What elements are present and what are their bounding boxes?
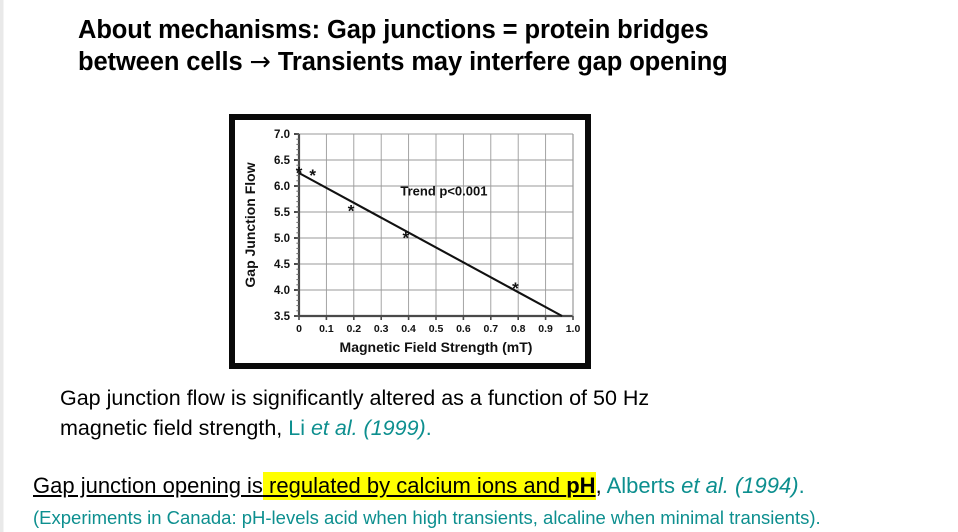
x-axis-label: Magnetic Field Strength (mT) — [340, 339, 533, 355]
data-point-marker: * — [296, 164, 303, 183]
title-line-2-before: between cells — [78, 48, 243, 76]
y-tick-label: 5.5 — [274, 207, 291, 219]
data-point-marker: * — [403, 229, 410, 248]
x-tick-label: 0.6 — [456, 323, 471, 335]
y-tick-label: 4.5 — [274, 259, 291, 271]
arrow-icon: → — [250, 47, 271, 77]
slide-title: About mechanisms: Gap junctions = protei… — [78, 14, 898, 78]
footnote: (Experiments in Canada: pH-levels acid w… — [33, 506, 943, 530]
x-tick-label: 0.9 — [538, 323, 553, 335]
x-tick-label: 0.8 — [511, 323, 526, 335]
y-tick-label: 6.0 — [274, 181, 290, 193]
page-edge-artifact-2 — [3, 0, 4, 532]
title-line-2-after: Transients may interfere gap opening — [278, 48, 728, 76]
citation-li-rest: et al. (1999) — [305, 416, 426, 440]
title-line-1: About mechanisms: Gap junctions = protei… — [78, 16, 709, 44]
y-tick-label: 4.0 — [274, 285, 290, 297]
highlight-line-plain-1: Gap junction opening is — [33, 473, 263, 498]
scatter-chart: 3.54.04.55.05.56.06.57.000.10.20.30.40.5… — [235, 120, 585, 363]
y-tick-label: 7.0 — [274, 129, 290, 141]
x-tick-label: 0.3 — [374, 323, 389, 335]
citation-li-end: . — [426, 416, 432, 440]
citation-alberts-end: . — [799, 473, 805, 498]
title-line-2: between cells → Transients may interfere… — [78, 46, 898, 78]
paragraph-line-1: Gap junction flow is significantly alter… — [60, 386, 649, 410]
paragraph-line-2: magnetic field strength, Li et al. (1999… — [60, 413, 820, 443]
data-point-marker: * — [348, 201, 355, 220]
highlight-marked-text-1: regulated by calcium ions and — [263, 473, 566, 498]
data-point-marker: * — [512, 279, 519, 298]
x-tick-label: 1.0 — [566, 323, 581, 335]
citation-li-name: Li — [288, 416, 305, 440]
chart-figure: 3.54.04.55.05.56.06.57.000.10.20.30.40.5… — [229, 114, 591, 369]
x-tick-label: 0 — [296, 323, 302, 335]
y-tick-label: 6.5 — [274, 155, 291, 167]
y-axis-label: Gap Junction Flow — [242, 162, 258, 287]
x-tick-label: 0.1 — [319, 323, 334, 335]
citation-alberts-rest: et al. (1994) — [675, 473, 799, 498]
chart-plot-area: 3.54.04.55.05.56.06.57.000.10.20.30.40.5… — [235, 120, 585, 363]
y-tick-label: 5.0 — [274, 233, 290, 245]
x-tick-label: 0.7 — [483, 323, 498, 335]
x-tick-label: 0.2 — [346, 323, 361, 335]
data-point-marker: * — [309, 166, 316, 185]
paragraph-line-2-plain: magnetic field strength, — [60, 416, 288, 440]
highlight-line: Gap junction opening is regulated by cal… — [33, 472, 933, 500]
x-tick-label: 0.4 — [401, 323, 416, 335]
highlight-marked-ph: pH — [566, 473, 595, 498]
body-paragraph: Gap junction flow is significantly alter… — [60, 383, 820, 443]
trend-annotation: Trend p<0.001 — [400, 183, 487, 198]
highlight-line-plain-2: , — [596, 473, 607, 498]
highlight-marked-text: regulated by calcium ions and pH — [263, 472, 596, 500]
x-tick-label: 0.5 — [429, 323, 444, 335]
citation-alberts-name: Alberts — [607, 473, 675, 498]
y-tick-label: 3.5 — [274, 311, 291, 323]
